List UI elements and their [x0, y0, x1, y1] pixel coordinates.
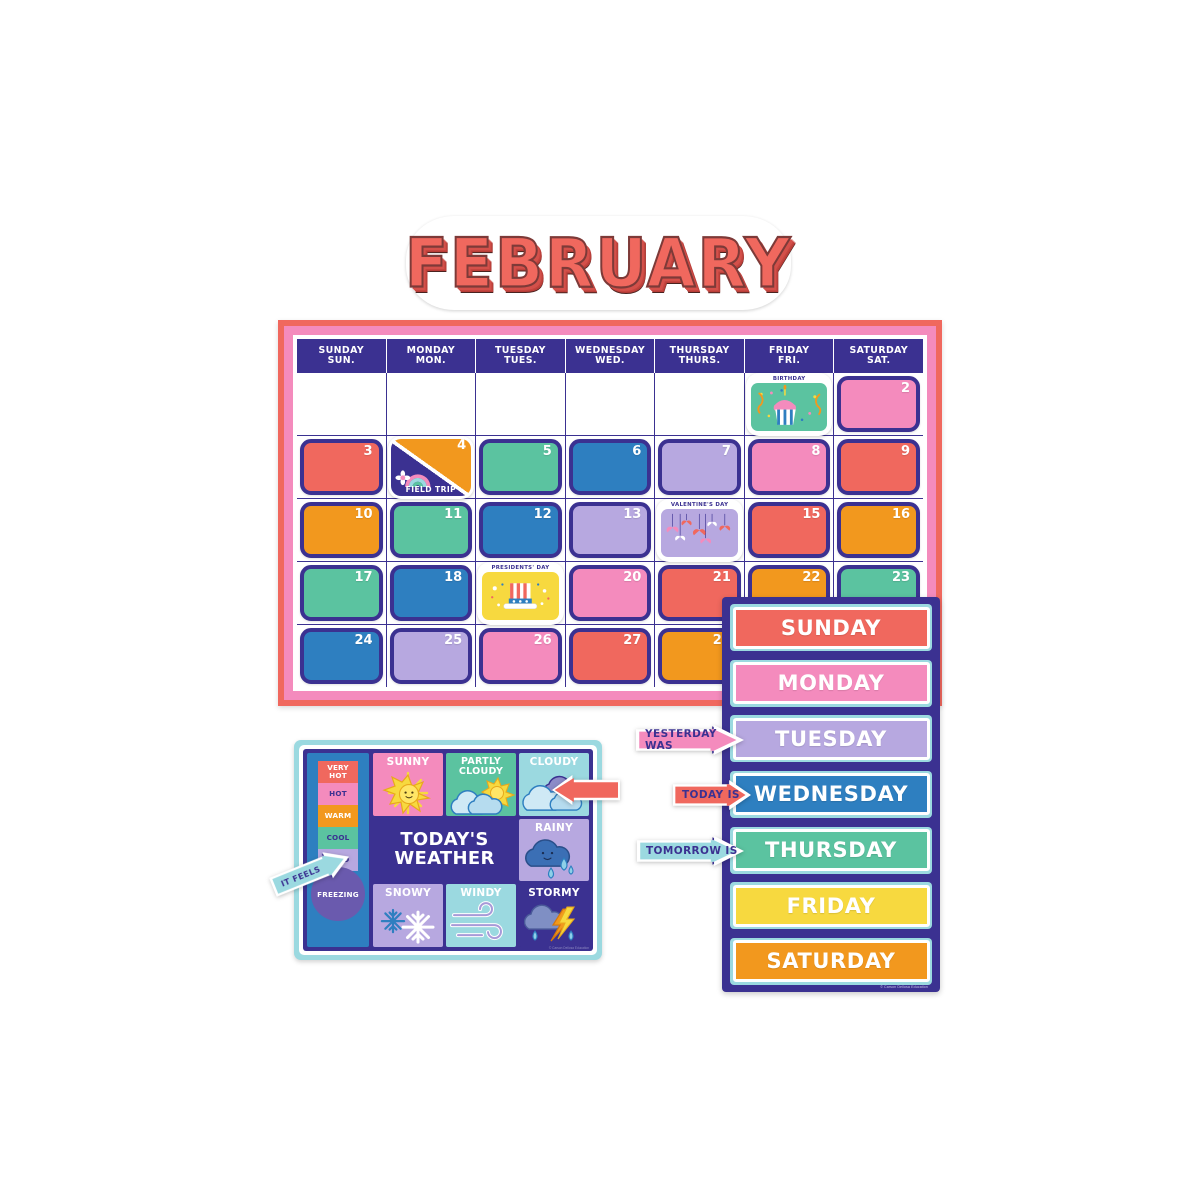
calendar-cell-empty — [566, 373, 656, 435]
day-number: 17 — [354, 570, 372, 585]
day-card-label: THURSDAY — [765, 838, 897, 862]
day-number: 25 — [444, 633, 462, 648]
day-number: 18 — [444, 570, 462, 585]
calendar-cell-empty — [476, 373, 566, 435]
sticker-label: PRESIDENTS' DAY — [477, 562, 564, 572]
calendar-header-monday: MONDAY MON. — [387, 339, 477, 373]
weather-tile-partly-cloudy[interactable]: PARTLY CLOUDY — [446, 753, 516, 816]
calendar-cell-empty — [297, 373, 387, 435]
calendar-cell-10[interactable]: 10 — [297, 499, 387, 561]
calendar-cell-5[interactable]: 5 — [476, 436, 566, 498]
calendar-cell-20[interactable]: 20 — [566, 562, 656, 624]
sticker-label: VALENTINE'S DAY — [656, 499, 743, 509]
day-tile[interactable]: 9 — [837, 439, 920, 495]
weather-tile-label: CLOUDY — [530, 753, 579, 768]
day-number: 5 — [543, 444, 552, 459]
sun-cloud-icon — [446, 776, 516, 816]
day-tile[interactable]: 12 — [479, 502, 562, 558]
calendar-cell-9[interactable]: 9 — [834, 436, 923, 498]
day-tile[interactable]: 26 — [479, 628, 562, 684]
day-number: 6 — [632, 444, 641, 459]
header-abbr: TUES. — [504, 356, 537, 366]
calendar-cell-3[interactable]: 3 — [297, 436, 387, 498]
weather-selector-pointer[interactable] — [552, 775, 620, 805]
thermo-seg-warm[interactable]: WARM — [318, 805, 358, 827]
yesterday-was-pointer[interactable]: YESTERDAY WAS — [636, 725, 744, 755]
day-tile[interactable]: 24 — [300, 628, 383, 684]
weather-copyright: © Carson Dellosa Education — [549, 946, 589, 950]
day-tile[interactable]: 11 — [390, 502, 473, 558]
day-number: 8 — [811, 444, 820, 459]
header-abbr: FRI. — [778, 356, 800, 366]
day-card-label: SATURDAY — [767, 949, 896, 973]
calendar-header-sunday: SUNDAY SUN. — [297, 339, 387, 373]
todays-weather-title: TODAY'S WEATHER — [373, 819, 516, 882]
thermo-label: COOL — [327, 834, 350, 842]
day-tile[interactable]: 8 — [748, 439, 831, 495]
day-cards-copyright: © Carson Dellosa Education — [880, 985, 928, 989]
calendar-cell-25[interactable]: 25 — [387, 625, 477, 687]
day-card-thursday[interactable]: THURSDAY — [730, 827, 932, 874]
day-number: 22 — [802, 570, 820, 585]
day-number: 13 — [623, 507, 641, 522]
day-number: 9 — [901, 444, 910, 459]
month-title-sticker: FEBRUARY — [406, 216, 791, 310]
day-tile[interactable]: 6 — [569, 439, 652, 495]
day-number: 20 — [623, 570, 641, 585]
weather-tile-label: SNOWY — [385, 884, 431, 899]
calendar-header-wednesday: WEDNESDAY WED. — [566, 339, 656, 373]
lightning-icon — [519, 899, 589, 947]
day-of-week-card-panel: SUNDAY MONDAY TUESDAY WEDNESDAY THURSDAY — [722, 597, 940, 992]
day-number: 12 — [534, 507, 552, 522]
today-label: TODAY IS — [682, 789, 740, 801]
calendar-cell-17[interactable]: 17 — [297, 562, 387, 624]
calendar-cell-14[interactable]: VALENTINE'S DAY — [655, 499, 745, 561]
rain-cloud-icon — [519, 833, 589, 881]
sticker-label: BIRTHDAY — [746, 373, 833, 383]
day-number: 27 — [623, 633, 641, 648]
weather-tile-rainy[interactable]: RAINY — [519, 819, 589, 882]
thermo-seg-hot[interactable]: HOT — [318, 783, 358, 805]
day-number: 16 — [892, 507, 910, 522]
day-tile[interactable]: 3 — [300, 439, 383, 495]
snowflake-icon — [373, 899, 443, 947]
day-tile[interactable]: 17 — [300, 565, 383, 621]
calendar-cell-26[interactable]: 26 — [476, 625, 566, 687]
day-tile[interactable]: 5 — [479, 439, 562, 495]
calendar-cell-24[interactable]: 24 — [297, 625, 387, 687]
day-card-friday[interactable]: FRIDAY — [730, 882, 932, 929]
sun-icon — [373, 768, 443, 816]
calendar-cell-empty — [655, 373, 745, 435]
calendar-cell-16[interactable]: 16 — [834, 499, 923, 561]
thermo-label: FREEZING — [317, 890, 359, 899]
weather-tile-stormy[interactable]: STORMY — [519, 884, 589, 947]
day-tile[interactable]: 18 — [390, 565, 473, 621]
weather-tile-label: WINDY — [460, 884, 501, 899]
calendar-week-row: 10111213VALENTINE'S DAY 1516 — [297, 498, 923, 561]
day-card-saturday[interactable]: SATURDAY — [730, 938, 932, 985]
weather-tile-snowy[interactable]: SNOWY — [373, 884, 443, 947]
day-tile[interactable]: 10 — [300, 502, 383, 558]
day-number: 15 — [802, 507, 820, 522]
header-abbr: MON. — [416, 356, 446, 366]
day-tile[interactable]: 2 — [837, 376, 920, 432]
header-abbr: THURS. — [679, 356, 721, 366]
weather-tile-label: SUNNY — [387, 753, 430, 768]
calendar-header-friday: FRIDAY FRI. — [745, 339, 835, 373]
calendar-header-saturday: SATURDAY SAT. — [834, 339, 923, 373]
day-card-label: MONDAY — [778, 671, 885, 695]
calendar-cell-7[interactable]: 7 — [655, 436, 745, 498]
bulletin-board-canvas: FEBRUARY SUNDAY SUN. MONDAY MON. TUESDAY — [0, 0, 1200, 1200]
calendar-cell-6[interactable]: 6 — [566, 436, 656, 498]
day-card-label: WEDNESDAY — [754, 782, 908, 806]
weather-tile-label: STORMY — [528, 884, 580, 899]
day-number: 26 — [534, 633, 552, 648]
header-abbr: WED. — [595, 356, 625, 366]
day-card-tuesday[interactable]: TUESDAY — [730, 715, 932, 762]
thermo-label: VERY HOT — [318, 764, 358, 779]
thermo-label: HOT — [329, 790, 347, 798]
calendar-cell-19[interactable]: PRESIDENTS' DAY — [476, 562, 566, 624]
day-card-wednesday[interactable]: WEDNESDAY — [730, 771, 932, 818]
wind-icon — [446, 899, 516, 947]
calendar-cell-12[interactable]: 12 — [476, 499, 566, 561]
weather-tile-windy[interactable]: WINDY — [446, 884, 516, 947]
day-tile[interactable]: 15 — [748, 502, 831, 558]
day-tile[interactable]: 20 — [569, 565, 652, 621]
day-card-sunday[interactable]: SUNDAY — [730, 604, 932, 651]
calendar-cell-18[interactable]: 18 — [387, 562, 477, 624]
day-number: 11 — [444, 507, 462, 522]
calendar-week-row: BIRTHDAY 2 — [297, 373, 923, 435]
today-is-pointer[interactable]: TODAY IS — [673, 780, 751, 810]
thermo-label: WARM — [325, 812, 352, 820]
day-tile[interactable]: 25 — [390, 628, 473, 684]
header-abbr: SAT. — [867, 356, 890, 366]
calendar-header-thursday: THURSDAY THURS. — [655, 339, 745, 373]
calendar-header-row: SUNDAY SUN. MONDAY MON. TUESDAY TUES. WE… — [297, 339, 923, 373]
day-number: 2 — [901, 381, 910, 396]
sticker-presidents[interactable]: PRESIDENTS' DAY — [477, 562, 564, 625]
yesterday-label: YESTERDAY WAS — [645, 728, 744, 752]
day-number: 10 — [354, 507, 372, 522]
day-tile[interactable]: 7 — [658, 439, 741, 495]
calendar-cell-8[interactable]: 8 — [745, 436, 835, 498]
weather-title-line2: WEATHER — [394, 850, 494, 869]
calendar-cell-13[interactable]: 13 — [566, 499, 656, 561]
day-card-label: SUNDAY — [781, 616, 881, 640]
day-number: 3 — [364, 444, 373, 459]
day-number: 23 — [892, 570, 910, 585]
weather-tile-label: PARTLY CLOUDY — [446, 753, 516, 776]
calendar-cell-2[interactable]: 2 — [834, 373, 923, 435]
page-title: FEBRUARY — [405, 224, 792, 303]
sticker-birthday[interactable]: BIRTHDAY — [746, 373, 833, 436]
calendar-cell-4[interactable]: 4 FIELD TRIP — [387, 436, 477, 498]
calendar-week-row: 3 4 FIELD TRIP — [297, 435, 923, 498]
day-number: 24 — [354, 633, 372, 648]
calendar-cell-1[interactable]: BIRTHDAY — [745, 373, 835, 435]
weather-tile-sunny[interactable]: SUNNY — [373, 753, 443, 816]
day-card-label: TUESDAY — [775, 727, 887, 751]
day-card-label: FRIDAY — [787, 894, 876, 918]
sticker-label: FIELD TRIP — [391, 485, 472, 494]
day-number: 7 — [722, 444, 731, 459]
calendar-header-tuesday: TUESDAY TUES. — [476, 339, 566, 373]
day-tile[interactable]: 16 — [837, 502, 920, 558]
day-card-monday[interactable]: MONDAY — [730, 660, 932, 707]
weather-tile-label: RAINY — [535, 819, 573, 834]
header-abbr: SUN. — [328, 356, 355, 366]
tomorrow-label: TOMORROW IS — [646, 845, 738, 857]
calendar-cell-27[interactable]: 27 — [566, 625, 656, 687]
calendar-cell-11[interactable]: 11 — [387, 499, 477, 561]
sticker-field-trip[interactable]: 4 FIELD TRIP — [388, 436, 475, 499]
day-tile[interactable]: 13 — [569, 502, 652, 558]
thermo-seg-very-hot[interactable]: VERY HOT — [318, 761, 358, 783]
calendar-cell-empty — [387, 373, 477, 435]
sticker-valentines[interactable]: VALENTINE'S DAY — [656, 499, 743, 562]
calendar-cell-15[interactable]: 15 — [745, 499, 835, 561]
day-number: 21 — [713, 570, 731, 585]
tomorrow-is-pointer[interactable]: TOMORROW IS — [637, 836, 744, 866]
day-tile[interactable]: 27 — [569, 628, 652, 684]
